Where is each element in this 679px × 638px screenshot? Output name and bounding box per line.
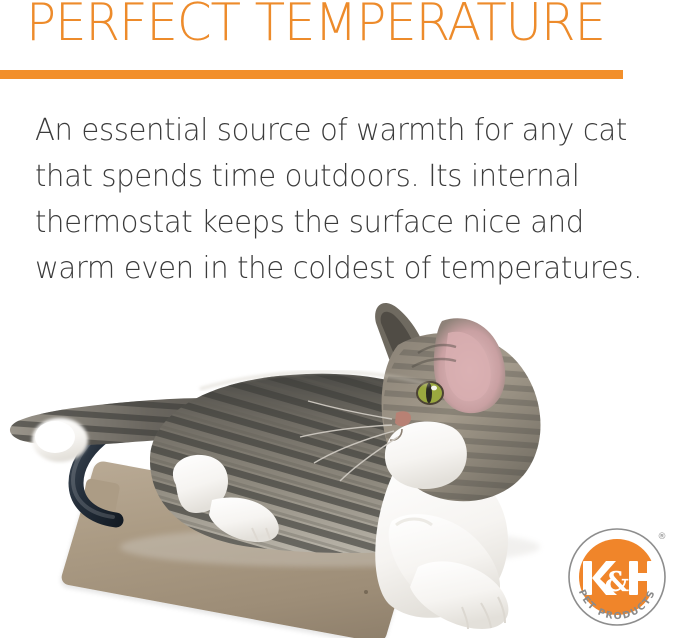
product-feature-banner: PERFECT TEMPERATURE An essential source … [0,0,679,638]
description-line-1: An essential source of warmth for any ca… [35,108,636,154]
description-paragraph: An essential source of warmth for any ca… [35,108,636,292]
description-line-3: thermostat keeps the surface nice and [35,200,636,246]
description-line-2: that spends time outdoors. Its internal [35,154,636,200]
svg-text:&: & [605,567,629,598]
divider-rule [0,70,623,79]
page-title: PERFECT TEMPERATURE [26,0,605,53]
registered-mark: ® [658,532,667,542]
brand-logo: & PET PRODUCTS ® [561,521,673,633]
